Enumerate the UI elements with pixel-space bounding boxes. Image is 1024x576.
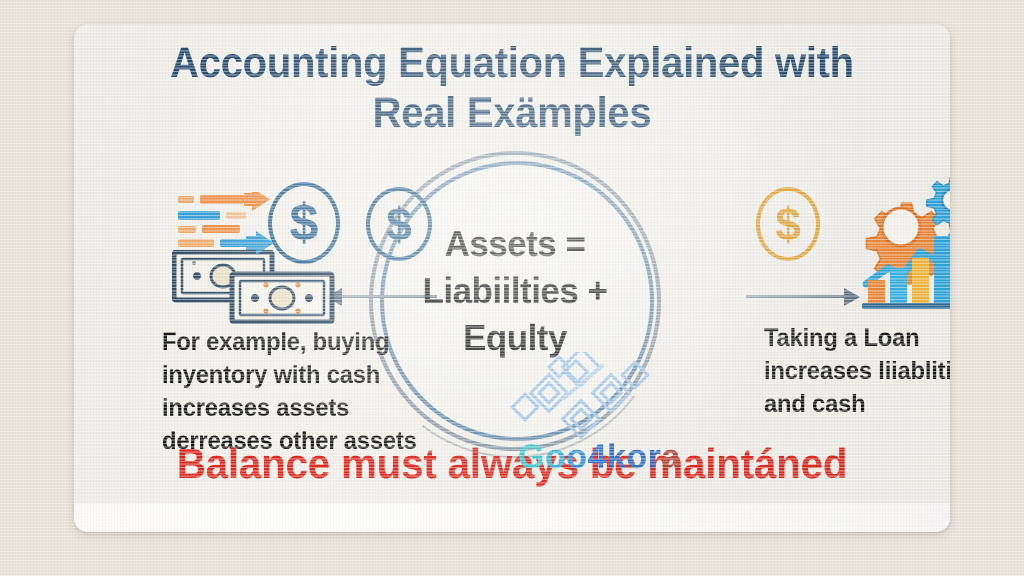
dollar-coin-icon: $	[268, 182, 340, 264]
growth-bar-chart-icon	[854, 172, 950, 317]
card-footer-strip	[74, 504, 950, 532]
infographic-card: Accounting Equation Explained with Real …	[74, 24, 950, 532]
bottom-caption: Balance must always be maintáned	[92, 441, 933, 487]
dollar-coin-icon: $	[756, 187, 820, 261]
right-explanation-text: Taking a Loan increases liiablities and …	[764, 322, 950, 421]
equation-line-1: Assets =	[376, 220, 653, 267]
right-text-line-3: and cash	[764, 388, 950, 421]
page-title: Accounting Equation Explained with Real …	[105, 38, 920, 138]
infographic-canvas: Accounting Equation Explained with Real …	[0, 0, 1024, 576]
right-arrow-line	[746, 295, 846, 298]
accounting-equation: Assets = Liabiilties + Equlty	[376, 220, 653, 361]
left-text-line-3: increases assets	[162, 392, 417, 425]
right-text-line-1: Taking a Loan	[764, 322, 950, 355]
right-text-line-2: increases liiablities	[764, 355, 950, 388]
title-line-1: Accounting Equation Explained with	[170, 39, 854, 87]
equation-line-2: Liabiilties +	[376, 267, 653, 314]
equation-line-3: Equlty	[376, 314, 653, 361]
left-text-line-2: inyentory with cash	[162, 359, 417, 392]
title-line-2: Real Exämples	[105, 88, 920, 138]
